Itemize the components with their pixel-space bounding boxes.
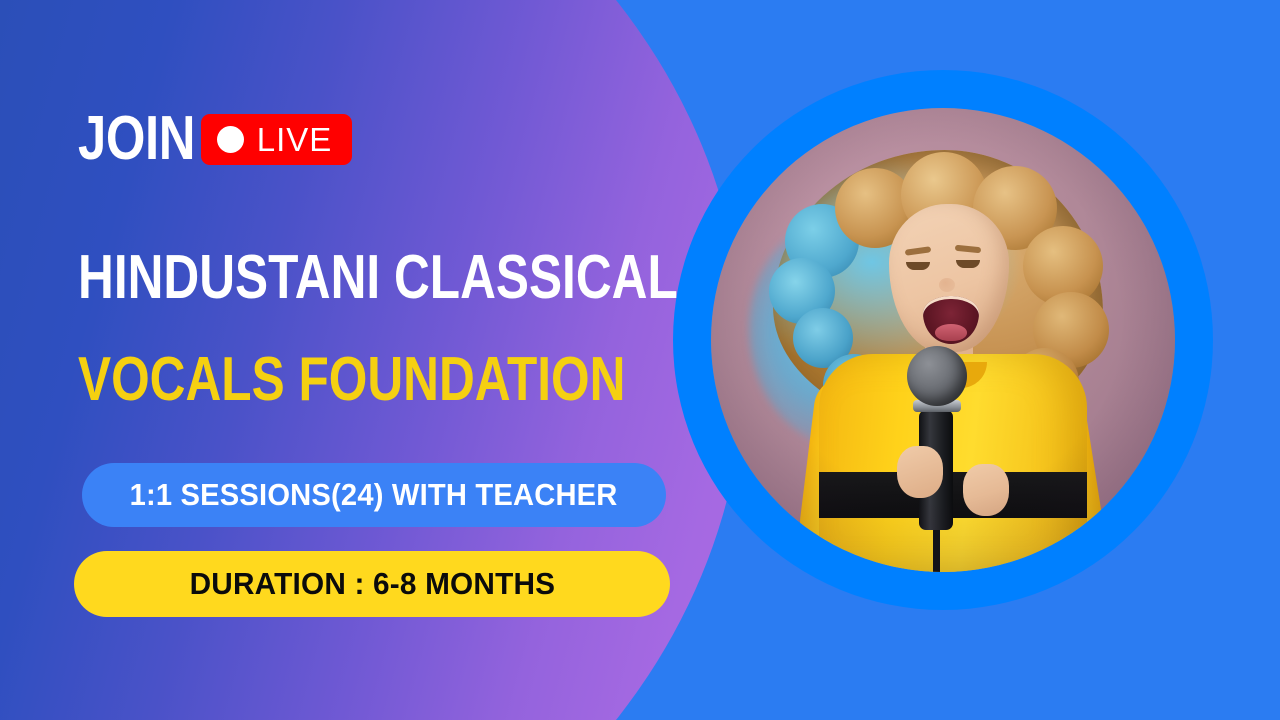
record-dot-icon: [217, 126, 244, 153]
headline-line-1: HINDUSTANI CLASSICAL: [78, 246, 678, 309]
promo-banner: JOIN LIVE HINDUSTANI CLASSICAL VOCALS FO…: [0, 0, 1280, 720]
live-badge: LIVE: [201, 114, 353, 165]
hand-left: [897, 446, 943, 498]
text-column: JOIN LIVE HINDUSTANI CLASSICAL VOCALS FO…: [78, 0, 698, 720]
black-waistband: [819, 472, 1087, 518]
eyebrow-right: [955, 245, 981, 254]
duration-pill-label: DURATION : 6-8 MONTHS: [189, 566, 555, 602]
join-label: JOIN: [78, 108, 195, 170]
photo-ring: [673, 70, 1213, 610]
nose: [939, 278, 955, 292]
eye-right: [956, 260, 980, 268]
duration-pill: DURATION : 6-8 MONTHS: [74, 551, 670, 617]
face: [889, 204, 1009, 352]
eyebrow-left: [905, 246, 932, 256]
eye-left: [906, 262, 930, 270]
microphone-head: [907, 346, 967, 406]
sessions-pill: 1:1 SESSIONS(24) WITH TEACHER: [82, 463, 666, 527]
singer-photo: [711, 108, 1175, 572]
sessions-pill-label: 1:1 SESSIONS(24) WITH TEACHER: [130, 477, 618, 513]
photo-stage: [711, 108, 1175, 572]
headline-line-2: VOCALS FOUNDATION: [78, 348, 625, 411]
join-live-row: JOIN LIVE: [78, 108, 352, 170]
live-label: LIVE: [257, 123, 333, 156]
hand-right: [963, 464, 1009, 516]
microphone-stand: [933, 526, 940, 572]
tongue: [935, 324, 967, 341]
open-mouth: [923, 296, 979, 344]
